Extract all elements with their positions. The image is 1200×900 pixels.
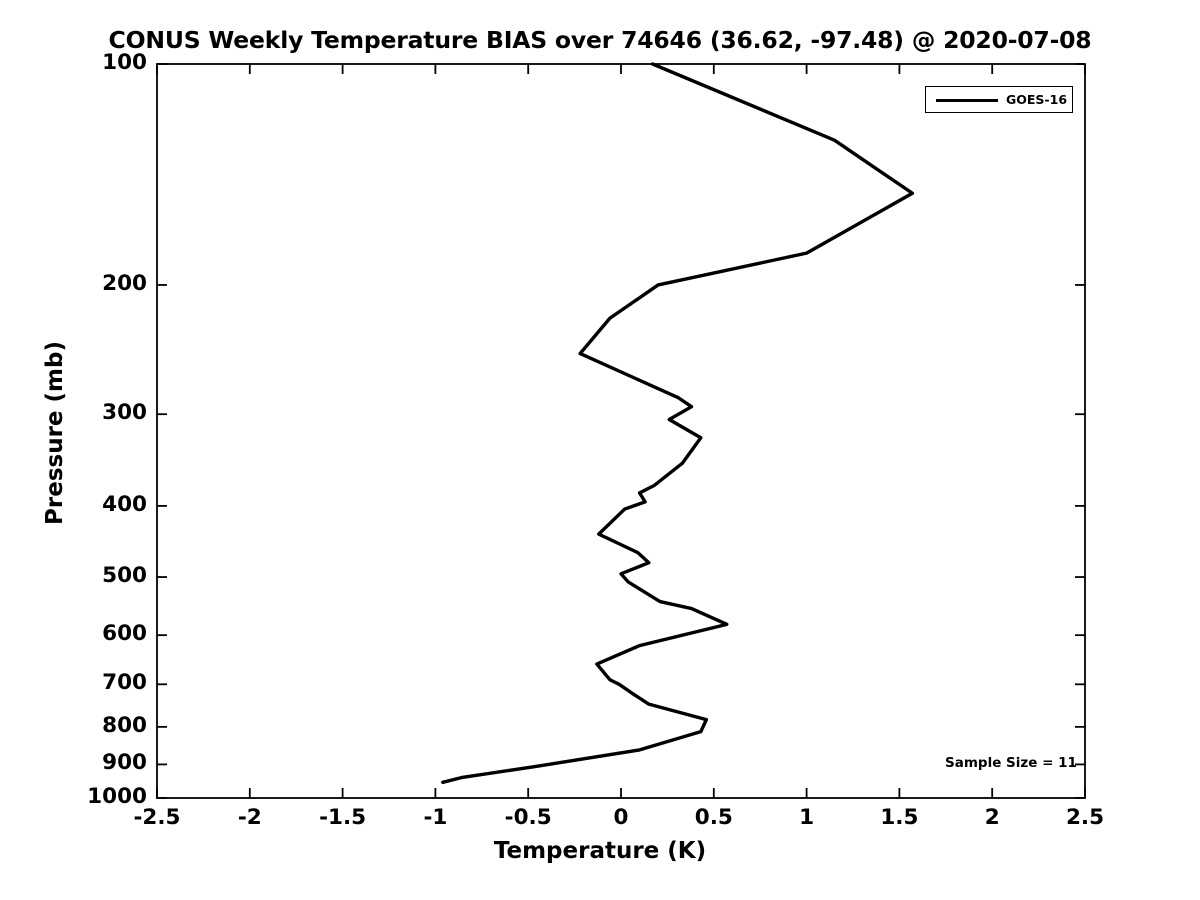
y-tick-label-400: 400 bbox=[57, 492, 147, 517]
x-axis-title: Temperature (K) bbox=[0, 838, 1200, 864]
x-tick-label-1: -2 bbox=[200, 805, 300, 830]
data-series-group bbox=[443, 64, 913, 782]
x-tick-label-6: 0.5 bbox=[664, 805, 764, 830]
x-tick-label-4: -0.5 bbox=[478, 805, 578, 830]
x-tick-label-10: 2.5 bbox=[1035, 805, 1135, 830]
x-tick-label-5: 0 bbox=[571, 805, 671, 830]
x-tick-label-8: 1.5 bbox=[849, 805, 949, 830]
x-tick-label-3: -1 bbox=[385, 805, 485, 830]
legend-line-swatch bbox=[936, 99, 998, 102]
legend-label: GOES-16 bbox=[1006, 92, 1067, 107]
y-tick-label-100: 100 bbox=[57, 50, 147, 75]
x-tick-label-2: -1.5 bbox=[293, 805, 393, 830]
sample-size-annotation: Sample Size = 11 bbox=[945, 755, 1077, 771]
x-tick-label-7: 1 bbox=[757, 805, 857, 830]
y-tick-label-600: 600 bbox=[57, 621, 147, 646]
series-line-goes-16 bbox=[443, 64, 913, 782]
chart-figure: CONUS Weekly Temperature BIAS over 74646… bbox=[0, 0, 1200, 900]
y-tick-label-200: 200 bbox=[57, 271, 147, 296]
y-tick-label-800: 800 bbox=[57, 713, 147, 738]
axes-frame bbox=[157, 64, 1085, 798]
x-tick-label-0: -2.5 bbox=[107, 805, 207, 830]
y-tick-label-700: 700 bbox=[57, 670, 147, 695]
y-tick-label-300: 300 bbox=[57, 400, 147, 425]
tick-marks bbox=[157, 64, 1085, 798]
axes-border bbox=[157, 64, 1085, 798]
y-tick-label-900: 900 bbox=[57, 750, 147, 775]
legend: GOES-16 bbox=[925, 86, 1073, 113]
x-tick-label-9: 2 bbox=[942, 805, 1042, 830]
y-tick-label-500: 500 bbox=[57, 563, 147, 588]
